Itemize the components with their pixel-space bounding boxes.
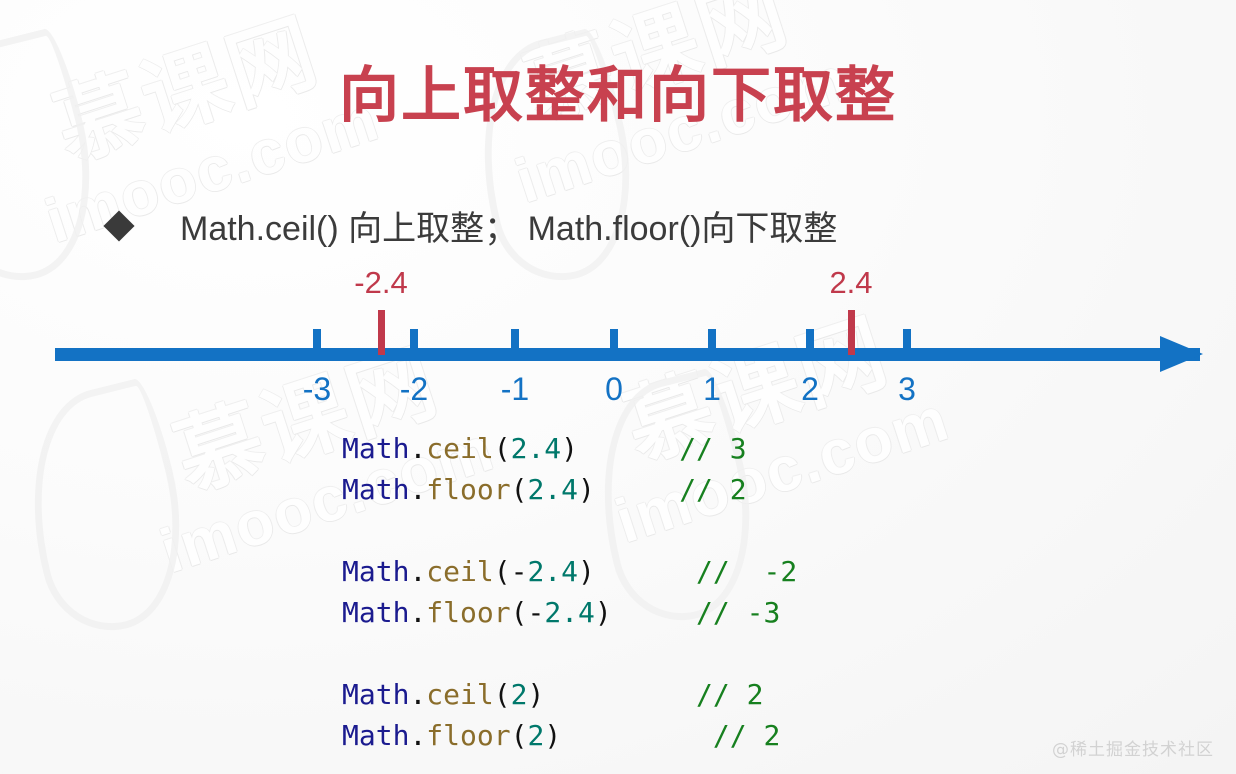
- code-token-comment: // 3: [679, 432, 746, 465]
- axis-tick: [610, 329, 618, 355]
- code-token-paren: ): [595, 596, 612, 629]
- code-token-paren: (: [494, 678, 511, 711]
- code-token-paren: (: [511, 719, 528, 752]
- flame-decoration: [3, 375, 207, 644]
- code-token-function: ceil: [426, 555, 493, 588]
- code-token-paren: ): [561, 432, 578, 465]
- code-token-space: [544, 678, 696, 711]
- code-token-paren: (: [511, 596, 528, 629]
- code-token-comment: // -3: [696, 596, 780, 629]
- code-line: Math.floor(2) // 2: [342, 715, 797, 756]
- code-token-function: ceil: [426, 432, 493, 465]
- slide-canvas: 慕课网 imooc.com 慕课网 imooc.com 慕课网 imooc.co…: [0, 0, 1236, 774]
- code-line: Math.ceil(2) // 2: [342, 674, 797, 715]
- code-token-dot: .: [409, 719, 426, 752]
- axis-arrow-icon: [1160, 336, 1203, 372]
- code-token-object: Math: [342, 473, 409, 506]
- code-token-paren: ): [578, 555, 595, 588]
- code-token-space: [578, 432, 679, 465]
- code-token-space: [561, 719, 713, 752]
- axis-tick-label: 2: [770, 371, 850, 408]
- code-token-operator: -: [527, 596, 544, 629]
- axis-tick-label: 3: [867, 371, 947, 408]
- axis-tick-label: -1: [475, 371, 555, 408]
- code-token-object: Math: [342, 432, 409, 465]
- code-group-gap: [342, 633, 797, 674]
- code-token-space: [612, 596, 696, 629]
- code-token-comment: // 2: [713, 719, 780, 752]
- code-token-object: Math: [342, 719, 409, 752]
- code-token-object: Math: [342, 555, 409, 588]
- axis-tick: [511, 329, 519, 355]
- code-token-object: Math: [342, 678, 409, 711]
- code-token-number: 2: [527, 719, 544, 752]
- value-marker-label: 2.4: [801, 265, 901, 301]
- code-line: Math.ceil(-2.4) // -2: [342, 551, 797, 592]
- code-token-dot: .: [409, 432, 426, 465]
- code-token-operator: -: [511, 555, 528, 588]
- value-marker: [848, 310, 855, 355]
- code-token-object: Math: [342, 596, 409, 629]
- code-token-dot: .: [409, 555, 426, 588]
- code-block: Math.ceil(2.4) // 3Math.floor(2.4) // 2M…: [342, 428, 797, 756]
- code-line: Math.floor(2.4) // 2: [342, 469, 797, 510]
- code-token-function: floor: [426, 473, 510, 506]
- number-line-axis: [55, 348, 1200, 361]
- axis-tick-label: -2: [374, 371, 454, 408]
- axis-tick: [410, 329, 418, 355]
- code-token-paren: ): [544, 719, 561, 752]
- code-token-number: 2.4: [527, 473, 578, 506]
- bullet-text: Math.ceil() 向上取整； Math.floor()向下取整: [180, 201, 837, 250]
- code-token-dot: .: [409, 473, 426, 506]
- axis-tick-label: 1: [672, 371, 752, 408]
- bullet-row: Math.ceil() 向上取整； Math.floor()向下取整: [108, 201, 837, 250]
- axis-tick: [708, 329, 716, 355]
- code-group-gap: [342, 510, 797, 551]
- code-token-paren: (: [494, 432, 511, 465]
- code-token-function: ceil: [426, 678, 493, 711]
- page-title: 向上取整和向下取整: [0, 47, 1236, 134]
- code-token-paren: ): [527, 678, 544, 711]
- axis-tick-label: -3: [277, 371, 357, 408]
- code-token-dot: .: [409, 678, 426, 711]
- code-token-space: [595, 555, 696, 588]
- code-token-dot: .: [409, 596, 426, 629]
- code-token-paren: (: [494, 555, 511, 588]
- code-line: Math.ceil(2.4) // 3: [342, 428, 797, 469]
- value-marker-label: -2.4: [331, 265, 431, 301]
- axis-tick-label: 0: [574, 371, 654, 408]
- value-marker: [378, 310, 385, 355]
- axis-tick: [313, 329, 321, 355]
- axis-tick: [903, 329, 911, 355]
- code-token-comment: // -2: [696, 555, 797, 588]
- code-token-paren: ): [578, 473, 595, 506]
- code-token-function: floor: [426, 596, 510, 629]
- code-token-number: 2.4: [527, 555, 578, 588]
- code-token-paren: (: [511, 473, 528, 506]
- code-token-comment: // 2: [696, 678, 763, 711]
- code-token-space: [595, 473, 679, 506]
- diamond-bullet-icon: [103, 210, 134, 241]
- axis-tick: [806, 329, 814, 355]
- code-line: Math.floor(-2.4) // -3: [342, 592, 797, 633]
- code-token-comment: // 2: [679, 473, 746, 506]
- footer-watermark: @稀土掘金技术社区: [1052, 735, 1214, 760]
- code-token-number: 2.4: [544, 596, 595, 629]
- code-token-number: 2.4: [511, 432, 562, 465]
- code-token-number: 2: [511, 678, 528, 711]
- code-token-function: floor: [426, 719, 510, 752]
